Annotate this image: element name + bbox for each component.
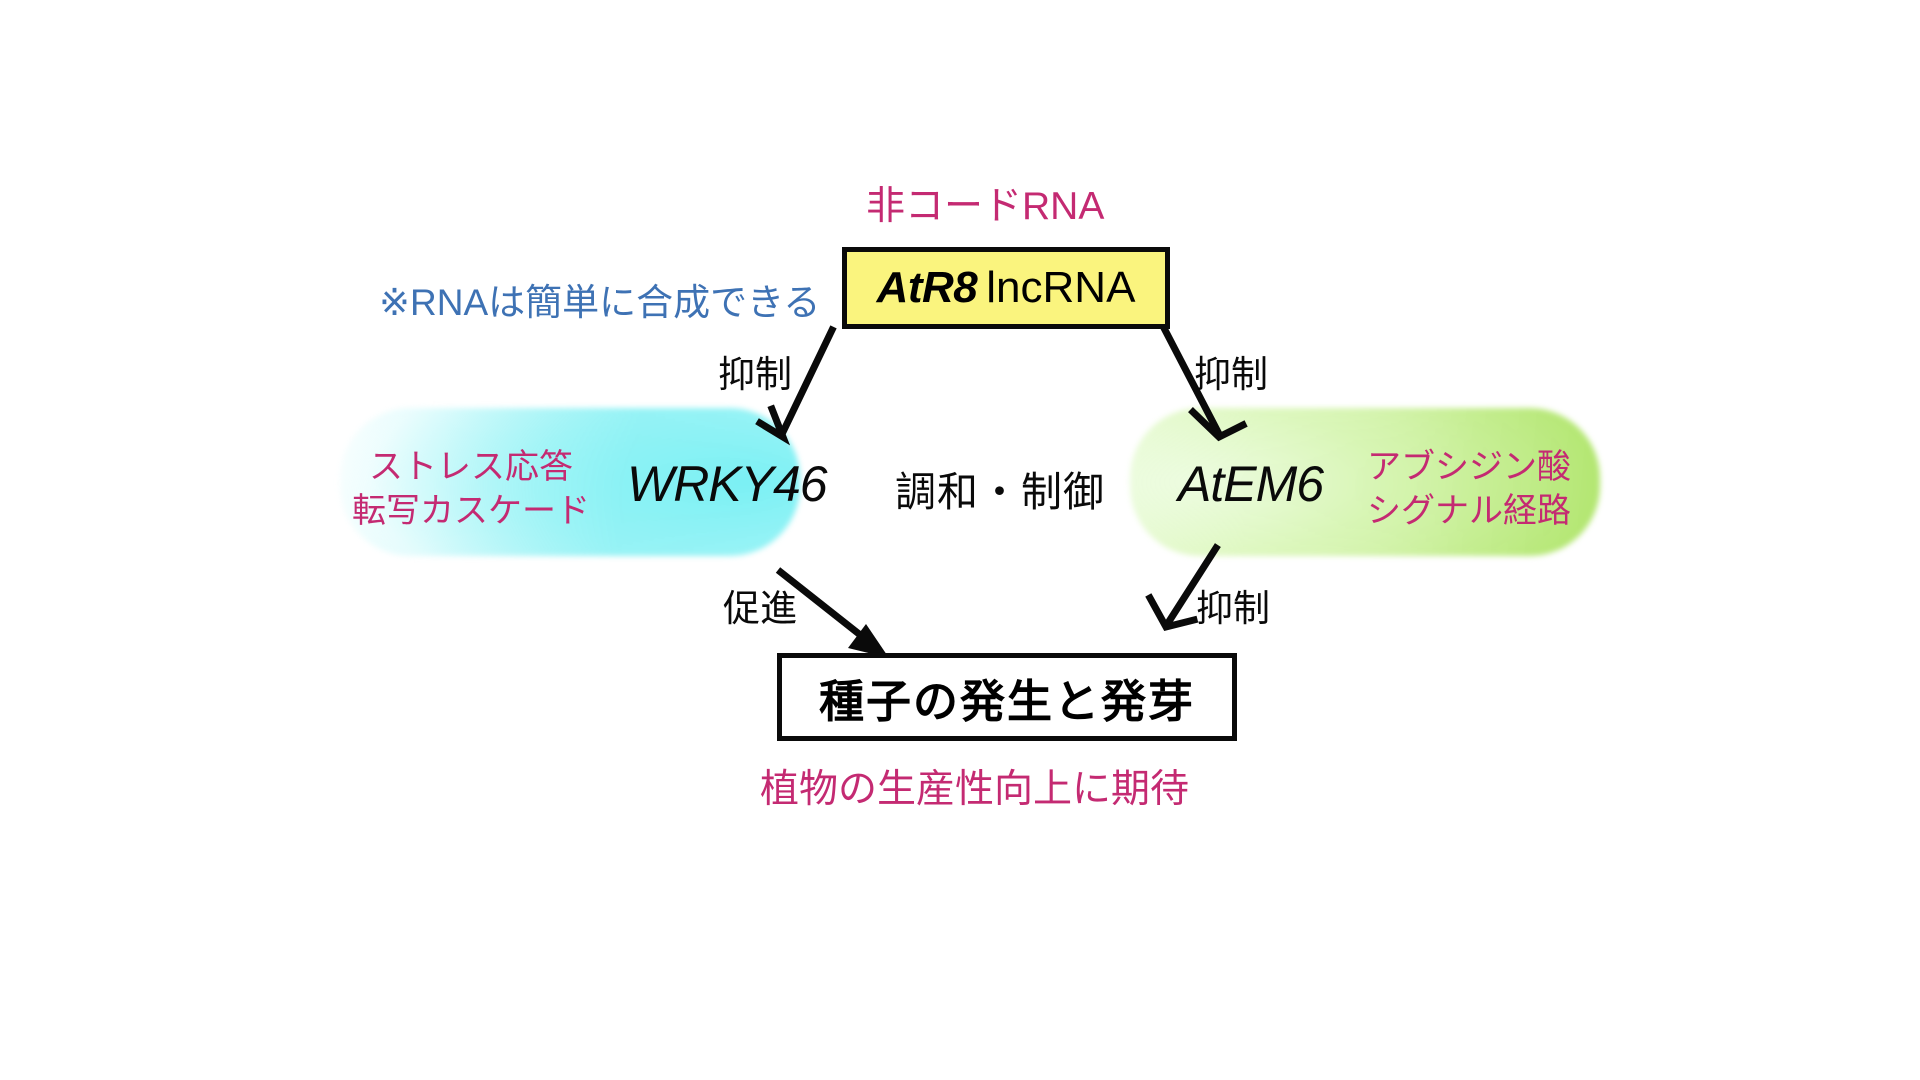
diagram-canvas: 非コードRNA ※RNAは簡単に合成できる AtR8lncRNA 抑制 抑制 促…	[0, 0, 1920, 1080]
edge-label-wrky46-seed: 促進	[723, 578, 797, 632]
aba-signaling-caption: アブシジン酸 シグナル経路	[1367, 446, 1571, 533]
edge-label-atr8-atem6: 抑制	[1194, 344, 1268, 398]
aba-signaling-caption-line2: シグナル経路	[1367, 490, 1571, 534]
node-atr8-lncrna[interactable]: AtR8lncRNA	[842, 247, 1170, 329]
aba-signaling-caption-line1: アブシジン酸	[1367, 446, 1571, 490]
arrow-layer	[0, 0, 1920, 1080]
stress-response-caption-line2: 転写カスケード	[352, 490, 590, 534]
stress-response-caption: ストレス応答 転写カスケード	[352, 446, 590, 533]
rna-synthesis-note: ※RNAは簡単に合成できる	[379, 272, 820, 326]
node-atr8-suffix: lncRNA	[986, 263, 1135, 313]
node-wrky46[interactable]: WRKY46	[627, 455, 827, 513]
node-atem6[interactable]: AtEM6	[1178, 455, 1323, 513]
noncoding-rna-annotation: 非コードRNA	[866, 175, 1104, 231]
center-regulation-label: 調和・制御	[895, 458, 1105, 518]
productivity-expectation-caption: 植物の生産性向上に期待	[760, 758, 1189, 814]
node-seed-development[interactable]: 種子の発生と発芽	[777, 653, 1237, 741]
edge-label-atem6-seed: 抑制	[1196, 578, 1270, 632]
edge-label-atr8-wrky46: 抑制	[718, 344, 792, 398]
stress-response-caption-line1: ストレス応答	[352, 446, 590, 490]
node-atr8-gene-name: AtR8	[877, 263, 978, 313]
